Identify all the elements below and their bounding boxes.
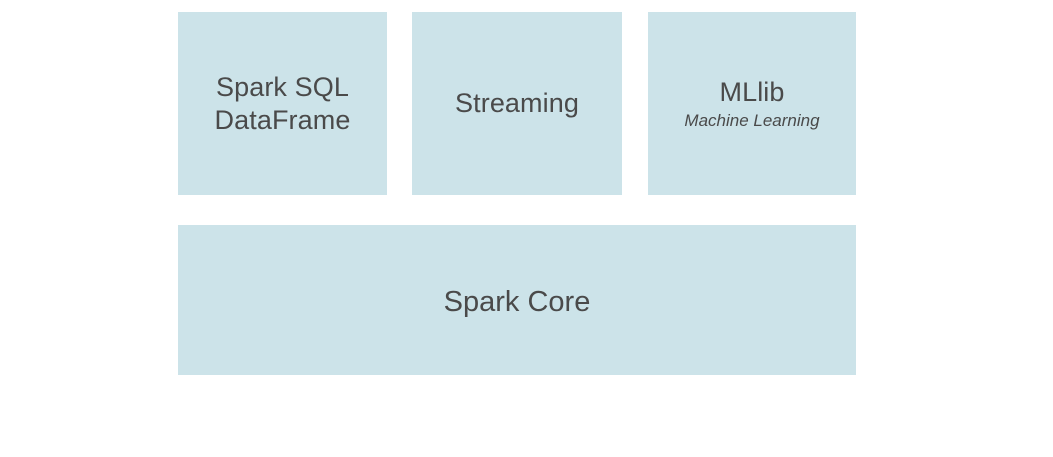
diagram-box-streaming[interactable]: Streaming [412, 12, 622, 195]
box-title-spark-sql: Spark SQL DataFrame [215, 71, 351, 137]
diagram-canvas: Spark SQL DataFrame Streaming MLlib Mach… [0, 0, 1053, 457]
box-subtitle-mllib: Machine Learning [684, 110, 819, 132]
box-title-spark-core: Spark Core [444, 285, 591, 320]
diagram-box-spark-sql[interactable]: Spark SQL DataFrame [178, 12, 387, 195]
diagram-box-mllib[interactable]: MLlib Machine Learning [648, 12, 856, 195]
box-title-mllib: MLlib [719, 76, 784, 109]
diagram-box-spark-core[interactable]: Spark Core [178, 225, 856, 375]
box-title-streaming: Streaming [455, 87, 579, 120]
